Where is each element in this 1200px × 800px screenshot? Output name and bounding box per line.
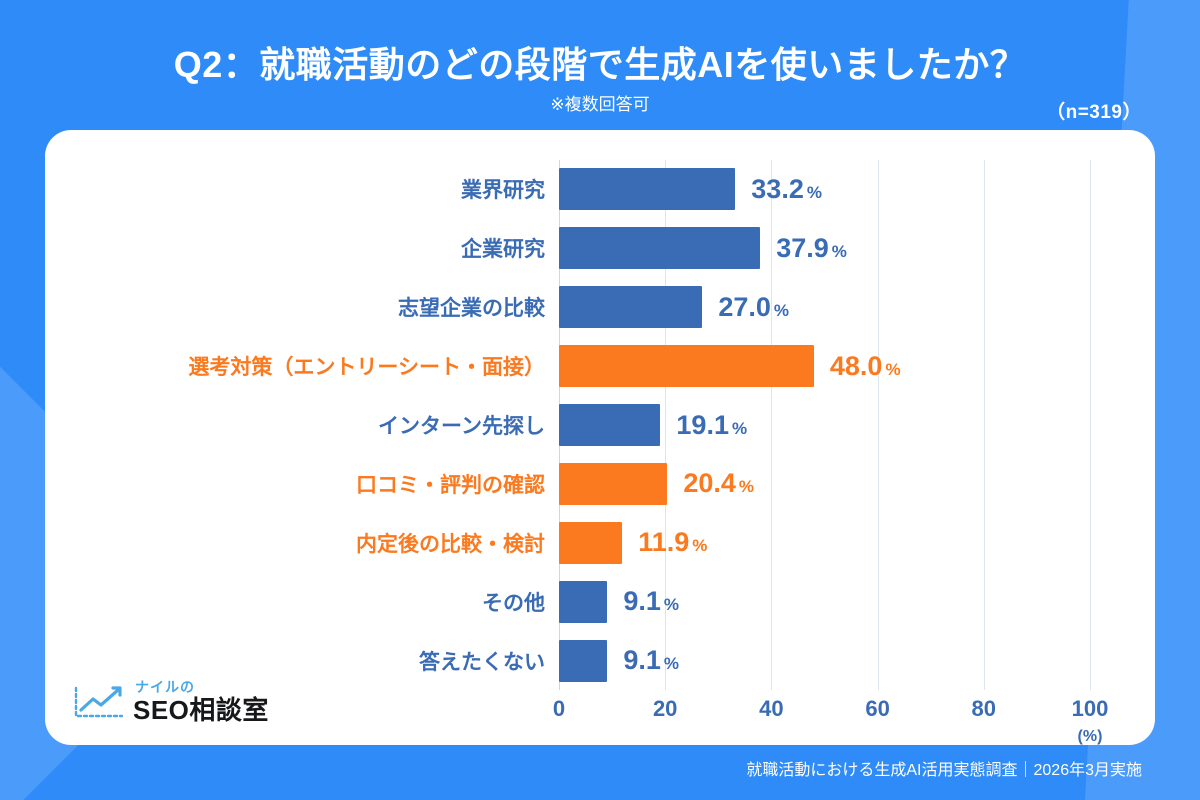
category-label: 志望企業の比較: [31, 278, 545, 337]
bar-value-unit: %: [739, 477, 754, 496]
gridline-100: [1090, 160, 1091, 690]
bar-value-number: 33.2: [751, 174, 804, 204]
line-chart-icon: [73, 683, 125, 723]
bar-value-unit: %: [885, 360, 900, 379]
bar[interactable]: [559, 640, 607, 682]
bar-value-label: 9.1%: [623, 588, 679, 615]
category-label: 企業研究: [31, 219, 545, 278]
category-label: 業界研究: [31, 160, 545, 219]
bar[interactable]: [559, 286, 702, 328]
bar-value-number: 27.0: [718, 292, 771, 322]
bar-value-label: 9.1%: [623, 647, 679, 674]
bar-value-label: 33.2%: [751, 176, 822, 203]
bar-value-unit: %: [832, 242, 847, 261]
bar-value-number: 19.1: [676, 410, 729, 440]
sample-size-badge: （n=319）: [1046, 97, 1142, 124]
bar-value-unit: %: [807, 183, 822, 202]
logo-text: ナイルの SEO相談室: [133, 680, 269, 723]
x-tick-label: 60: [865, 696, 889, 722]
x-tick-label: 0: [553, 696, 565, 722]
x-tick-label: 80: [972, 696, 996, 722]
category-label: その他: [31, 572, 545, 631]
bar-value-number: 48.0: [830, 351, 883, 381]
bar-row[interactable]: 37.9%: [559, 219, 1090, 278]
bar-row[interactable]: 27.0%: [559, 278, 1090, 337]
bar-row[interactable]: 9.1%: [559, 631, 1090, 690]
category-label: インターン先探し: [31, 396, 545, 455]
bar[interactable]: [559, 227, 760, 269]
bar[interactable]: [559, 168, 735, 210]
bar-value-number: 11.9: [638, 527, 689, 557]
x-tick-label: 20: [653, 696, 677, 722]
bar-value-unit: %: [774, 301, 789, 320]
bar-row[interactable]: 48.0%: [559, 337, 1090, 396]
bar-value-unit: %: [692, 536, 707, 555]
bar-value-unit: %: [732, 419, 747, 438]
bar-value-label: 20.4%: [683, 470, 754, 497]
x-tick-label: 100: [1072, 696, 1109, 722]
bar-value-unit: %: [664, 595, 679, 614]
plot-area: 33.2%37.9%27.0%48.0%19.1%20.4%11.9%9.1%9…: [559, 160, 1090, 690]
logo-kana: ナイルの: [135, 680, 269, 694]
bar-value-label: 11.9%: [638, 529, 707, 556]
page-title: Q2：就職活動のどの段階で生成AIを使いましたか？: [0, 36, 1200, 88]
infographic-canvas: Q2：就職活動のどの段階で生成AIを使いましたか？ ※複数回答可 （n=319）…: [0, 0, 1200, 800]
bar-row[interactable]: 11.9%: [559, 513, 1090, 572]
x-tick-label: 40: [759, 696, 783, 722]
bar[interactable]: [559, 404, 660, 446]
x-axis: (%) 020406080100: [559, 690, 1090, 750]
category-label: 内定後の比較・検討: [31, 513, 545, 572]
bar-row[interactable]: 19.1%: [559, 396, 1090, 455]
logo-wordmark: SEO相談室: [133, 697, 269, 723]
bar-row[interactable]: 9.1%: [559, 572, 1090, 631]
bar-value-label: 19.1%: [676, 412, 747, 439]
bar-value-label: 27.0%: [718, 294, 789, 321]
bar[interactable]: [559, 522, 622, 564]
subtitle-note: ※複数回答可: [0, 90, 1200, 115]
bar-value-number: 20.4: [683, 468, 736, 498]
bar-value-number: 37.9: [776, 233, 829, 263]
bar-value-number: 9.1: [623, 586, 661, 616]
header: Q2：就職活動のどの段階で生成AIを使いましたか？ ※複数回答可 （n=319）: [0, 0, 1200, 130]
brand-logo: ナイルの SEO相談室: [73, 680, 269, 723]
footer-caption: 就職活動における生成AI活用実態調査｜2026年3月実施: [746, 756, 1142, 780]
bar-series: 33.2%37.9%27.0%48.0%19.1%20.4%11.9%9.1%9…: [559, 160, 1090, 690]
category-label: 選考対策（エントリーシート・面接）: [31, 337, 545, 396]
bar[interactable]: [559, 463, 667, 505]
bar[interactable]: [559, 345, 814, 387]
bar-value-label: 48.0%: [830, 353, 901, 380]
bar-value-label: 37.9%: [776, 235, 847, 262]
bar-value-unit: %: [664, 654, 679, 673]
bar-row[interactable]: 20.4%: [559, 455, 1090, 514]
bar[interactable]: [559, 581, 607, 623]
bar-row[interactable]: 33.2%: [559, 160, 1090, 219]
chart-card: 業界研究企業研究志望企業の比較選考対策（エントリーシート・面接）インターン先探し…: [45, 130, 1155, 745]
bar-value-number: 9.1: [623, 645, 661, 675]
x-axis-unit-label: (%): [1078, 728, 1103, 746]
category-label: 口コミ・評判の確認: [31, 455, 545, 514]
